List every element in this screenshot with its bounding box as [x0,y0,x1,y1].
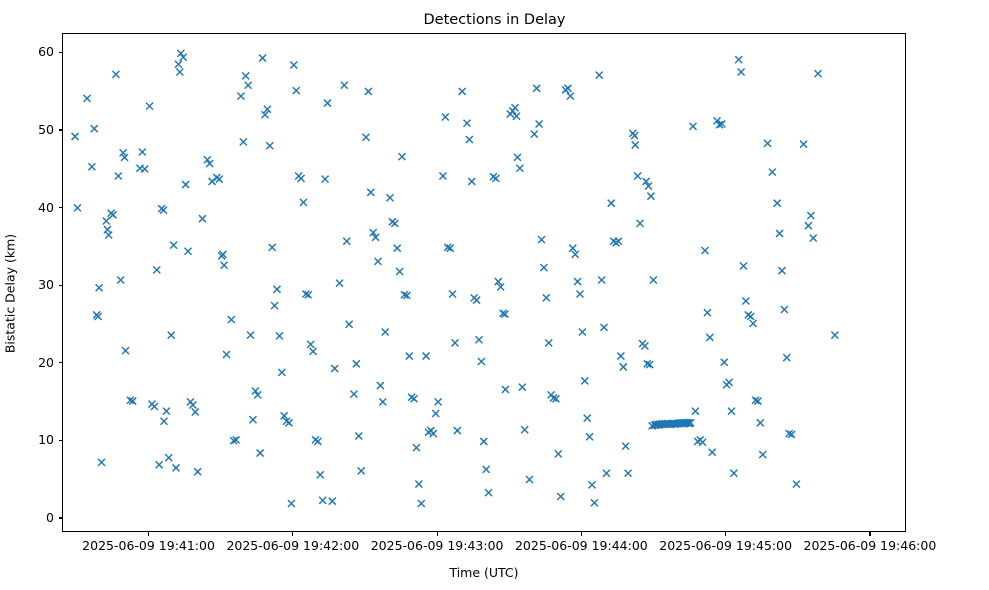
scatter-marker [117,277,124,284]
y-axis-label: Bistatic Delay (km) [3,94,18,494]
scatter-marker [519,384,526,391]
scatter-marker [189,401,196,408]
scatter-marker [831,332,838,339]
scatter-marker [314,438,321,445]
scatter-marker [783,354,790,361]
scatter-marker [555,450,562,457]
scatter-marker [569,245,576,252]
scatter-marker [173,464,180,471]
scatter-marker [182,181,189,188]
scatter-marker [692,408,699,415]
scatter-marker [647,193,654,200]
scatter-marker [96,284,103,291]
scatter-marker [322,176,329,183]
scatter-marker [259,55,266,62]
scatter-marker [228,316,235,323]
scatter-marker [98,459,105,466]
scatter-marker [139,148,146,155]
x-tick-label: 2025-06-09 19:41:00 [69,538,229,554]
scatter-marker [526,476,533,483]
x-tick-label: 2025-06-09 19:42:00 [213,538,373,554]
scatter-marker [620,363,627,370]
scatter-marker [545,339,552,346]
x-tick-mark [148,532,149,536]
scatter-marker [540,264,547,271]
scatter-marker [598,277,605,284]
scatter-marker [160,418,167,425]
scatter-marker [632,141,639,148]
scatter-marker [536,121,543,128]
scatter-marker [112,71,119,78]
scatter-marker [350,391,357,398]
scatter-marker [247,332,254,339]
x-tick-label: 2025-06-09 19:46:00 [790,538,950,554]
scatter-marker [778,267,785,274]
scatter-marker [387,194,394,201]
scatter-marker [151,403,158,410]
scatter-marker [579,329,586,336]
scatter-marker [266,142,273,149]
scatter-marker [451,339,458,346]
scatter-marker [153,266,160,273]
scatter-marker [637,220,644,227]
scatter-marker [807,212,814,219]
scatter-marker [257,450,264,457]
scatter-marker [557,493,564,500]
scatter-marker [319,497,326,504]
scatter-marker [603,470,610,477]
scatter-marker [84,95,91,102]
scatter-marker [245,82,252,89]
scatter-marker [615,238,622,245]
scatter-marker [353,360,360,367]
scatter-marker [122,347,129,354]
scatter-marker [531,131,538,138]
scatter-marker [576,290,583,297]
scatter-marker [463,120,470,127]
scatter-marker [533,85,540,92]
scatter-marker [704,309,711,316]
scatter-marker [512,104,519,111]
scatter-marker [589,481,596,488]
y-tick-label: 30 [38,277,54,293]
scatter-marker [362,134,369,141]
scatter-marker [631,132,638,139]
scatter-marker [413,444,420,451]
scatter-marker [764,140,771,147]
figure-canvas: Detections in Delay Bistatic Delay (km) … [0,0,989,590]
scatter-marker [396,268,403,275]
scatter-marker [141,166,148,173]
scatter-marker [415,481,422,488]
scatter-marker [709,449,716,456]
scatter-marker [699,439,706,446]
scatter-marker [411,395,418,402]
scatter-marker [622,443,629,450]
scatter-marker [485,489,492,496]
scatter-marker [459,88,466,95]
scatter-marker [374,258,381,265]
scatter-marker [480,438,487,445]
scatter-marker [454,427,461,434]
y-tick-label: 40 [38,200,54,216]
scatter-marker [341,82,348,89]
scatter-marker [307,341,314,348]
scatter-marker [735,56,742,63]
scatter-marker [564,85,571,92]
scatter-marker [317,471,324,478]
scatter-marker [475,336,482,343]
scatter-marker [293,87,300,94]
scatter-marker [240,138,247,145]
scatter-marker [432,410,439,417]
scatter-marker [774,200,781,207]
scatter-marker [331,365,338,372]
y-tick-label: 20 [38,355,54,371]
scatter-marker [805,222,812,229]
scatter-marker [793,481,800,488]
scatter-marker [726,379,733,386]
scatter-marker [781,306,788,313]
scatter-marker [810,235,817,242]
scatter-marker [91,125,98,132]
scatter-marker [274,286,281,293]
scatter-marker [377,382,384,389]
scatter-marker [192,408,199,415]
scatter-series [63,34,906,532]
scatter-marker [276,332,283,339]
scatter-marker [800,141,807,148]
scatter-marker [165,454,172,461]
scatter-marker [567,93,574,100]
scatter-marker [406,353,413,360]
scatter-marker [473,297,480,304]
scatter-marker [586,433,593,440]
scatter-marker [249,416,256,423]
scatter-marker [237,93,244,100]
scatter-marker [740,263,747,270]
scatter-marker [336,280,343,287]
scatter-marker [110,211,117,218]
scatter-marker [449,290,456,297]
scatter-marker [156,461,163,468]
scatter-marker [146,103,153,110]
scatter-marker [728,408,735,415]
x-tick-mark [292,532,293,536]
scatter-points-layer [63,34,905,531]
scatter-marker [391,220,398,227]
scatter-marker [584,415,591,422]
scatter-marker [310,348,317,355]
scatter-marker [394,245,401,252]
scatter-marker [742,297,749,304]
scatter-marker [346,321,353,328]
scatter-marker [769,169,776,176]
scatter-marker [574,278,581,285]
scatter-marker [185,248,192,255]
scatter-marker [278,369,285,376]
scatter-marker [750,320,757,327]
scatter-marker [625,470,632,477]
scatter-marker [492,175,499,182]
scatter-marker [286,419,293,426]
scatter-marker [423,353,430,360]
scatter-marker [543,294,550,301]
scatter-marker [288,500,295,507]
scatter-marker [199,215,206,222]
scatter-marker [223,351,230,358]
scatter-marker [367,189,374,196]
scatter-marker [591,499,598,506]
scatter-marker [483,466,490,473]
scatter-marker [439,173,446,180]
scatter-marker [435,398,442,405]
scatter-marker [596,72,603,79]
scatter-marker [721,359,728,366]
scatter-marker [572,251,579,258]
scatter-marker [617,353,624,360]
scatter-marker [466,136,473,143]
page-title: Detections in Delay [0,11,989,29]
x-tick-label: 2025-06-09 19:44:00 [501,538,661,554]
scatter-marker [160,207,167,214]
y-tick-label: 10 [38,432,54,448]
scatter-marker [516,165,523,172]
scatter-marker [776,230,783,237]
scatter-marker [521,426,528,433]
scatter-marker [216,176,223,183]
scatter-marker [290,62,297,69]
scatter-marker [601,324,608,331]
scatter-marker [538,236,545,243]
scatter-marker [738,69,745,76]
x-tick-mark [581,532,582,536]
scatter-marker [514,154,521,161]
scatter-marker [478,358,485,365]
x-tick-mark [725,532,726,536]
scatter-marker [329,498,336,505]
scatter-marker [163,408,170,415]
scatter-marker [706,334,713,341]
y-axis: Bistatic Delay (km) 0102030405060 [0,33,62,532]
scatter-marker [581,377,588,384]
scatter-marker [175,61,182,68]
scatter-marker [300,199,307,206]
y-tick-label: 60 [38,44,54,60]
scatter-marker [815,70,822,77]
scatter-marker [365,88,372,95]
scatter-marker [382,329,389,336]
scatter-marker [418,500,425,507]
x-tick-mark [437,532,438,536]
y-tick-label: 50 [38,122,54,138]
scatter-marker [221,262,228,269]
scatter-marker [399,153,406,160]
scatter-marker [105,231,112,238]
scatter-marker [242,72,249,79]
scatter-marker [194,468,201,475]
scatter-marker [689,123,696,130]
scatter-marker [759,451,766,458]
x-tick-label: 2025-06-09 19:43:00 [357,538,517,554]
scatter-marker [358,467,365,474]
scatter-marker [103,218,110,225]
scatter-marker [168,332,175,339]
scatter-marker [115,173,122,180]
scatter-marker [271,302,278,309]
scatter-marker [747,313,754,320]
scatter-marker [730,470,737,477]
scatter-marker [74,204,81,211]
scatter-marker [355,432,362,439]
x-tick-label: 2025-06-09 19:45:00 [646,538,806,554]
scatter-marker [72,133,79,140]
y-tick-label: 0 [46,510,54,526]
scatter-marker [468,178,475,185]
scatter-marker [502,386,509,393]
plot-area [62,33,906,532]
scatter-marker [176,69,183,76]
scatter-marker [650,277,657,284]
x-axis-label: Time (UTC) [62,565,906,580]
scatter-marker [343,238,350,245]
scatter-marker [634,173,641,180]
scatter-marker [298,175,305,182]
scatter-marker [641,342,648,349]
scatter-marker [608,200,615,207]
scatter-marker [702,247,709,254]
x-tick-mark [869,532,870,536]
scatter-marker [170,242,177,249]
scatter-marker [379,398,386,405]
scatter-marker [324,100,331,107]
scatter-marker [442,114,449,121]
scatter-marker [269,244,276,251]
scatter-marker [757,419,764,426]
scatter-marker [88,163,95,170]
